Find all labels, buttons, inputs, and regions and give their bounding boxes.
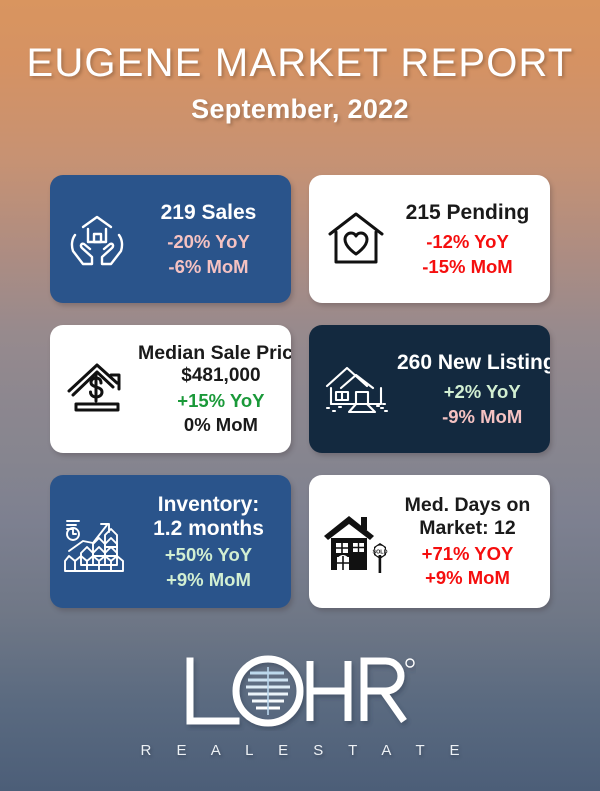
metric-text-median-sale-price: Median Sale Price $481,000 +15% YoY 0% M… — [138, 342, 291, 436]
metric-stat-yoy: +2% YoY — [397, 381, 550, 402]
logo-wordmark — [184, 655, 416, 727]
metric-value: 1.2 months — [138, 517, 279, 541]
metric-card-new-listings: 260 New Listings +2% YoY -9% MoM — [309, 325, 550, 453]
hands-holding-house-icon — [50, 207, 138, 271]
brand-logo: R E A L E S T A T E — [0, 655, 600, 759]
metric-card-grid: 219 Sales -20% YoY -6% MoM 215 Pending -… — [50, 175, 550, 608]
metric-value: $481,000 — [138, 365, 291, 387]
metric-headline: 215 Pending — [397, 201, 538, 225]
svg-text:SOLD: SOLD — [373, 549, 388, 555]
metric-stat-mom: -6% MoM — [138, 256, 279, 277]
metric-card-inventory: Inventory: 1.2 months +50% YoY +9% MoM — [50, 475, 291, 608]
metric-stat-mom: -9% MoM — [397, 406, 550, 427]
logo-tagline: R E A L E S T A T E — [0, 742, 600, 759]
metric-card-pending: 215 Pending -12% YoY -15% MoM — [309, 175, 550, 303]
metric-stat-yoy: -12% YoY — [397, 231, 538, 252]
rising-chart-houses-icon — [50, 511, 138, 573]
metric-text-sales: 219 Sales -20% YoY -6% MoM — [138, 201, 291, 277]
house-sold-sign-icon: SOLD — [309, 509, 397, 575]
house-dollar-icon — [50, 359, 138, 419]
metric-headline: 260 New Listings — [397, 351, 550, 375]
report-period: September, 2022 — [0, 94, 600, 125]
metric-headline: Inventory: — [138, 493, 279, 517]
metric-stat-mom: -15% MoM — [397, 256, 538, 277]
metric-text-pending: 215 Pending -12% YoY -15% MoM — [397, 201, 550, 277]
page-title: EUGENE MARKET REPORT — [0, 42, 600, 84]
metric-value: Market: 12 — [397, 517, 538, 540]
metric-headline: Med. Days on — [397, 494, 538, 517]
metric-stat-mom: +9% MoM — [138, 569, 279, 590]
metric-headline: 219 Sales — [138, 201, 279, 225]
metric-card-sales: 219 Sales -20% YoY -6% MoM — [50, 175, 291, 303]
report-header: EUGENE MARKET REPORT September, 2022 — [0, 42, 600, 125]
metric-stat-mom: 0% MoM — [138, 414, 291, 435]
metric-text-days-on-market: Med. Days on Market: 12 +71% YOY +9% MoM — [397, 494, 550, 588]
metric-headline: Median Sale Price — [138, 342, 291, 365]
metric-stat-yoy: +15% YoY — [138, 390, 291, 411]
metric-stat-mom: +9% MoM — [397, 567, 538, 588]
metric-text-inventory: Inventory: 1.2 months +50% YoY +9% MoM — [138, 493, 291, 591]
metric-text-new-listings: 260 New Listings +2% YoY -9% MoM — [397, 351, 550, 427]
metric-stat-yoy: +71% YOY — [397, 543, 538, 564]
metric-card-median-sale-price: Median Sale Price $481,000 +15% YoY 0% M… — [50, 325, 291, 453]
metric-stat-yoy: +50% YoY — [138, 544, 279, 565]
house-heart-icon — [309, 208, 397, 270]
metric-card-days-on-market: SOLD Med. Days on Market: 12 +71% YOY +9… — [309, 475, 550, 608]
new-house-listing-icon — [309, 360, 397, 418]
metric-stat-yoy: -20% YoY — [138, 231, 279, 252]
market-report-infographic: EUGENE MARKET REPORT September, 2022 219… — [0, 0, 600, 791]
